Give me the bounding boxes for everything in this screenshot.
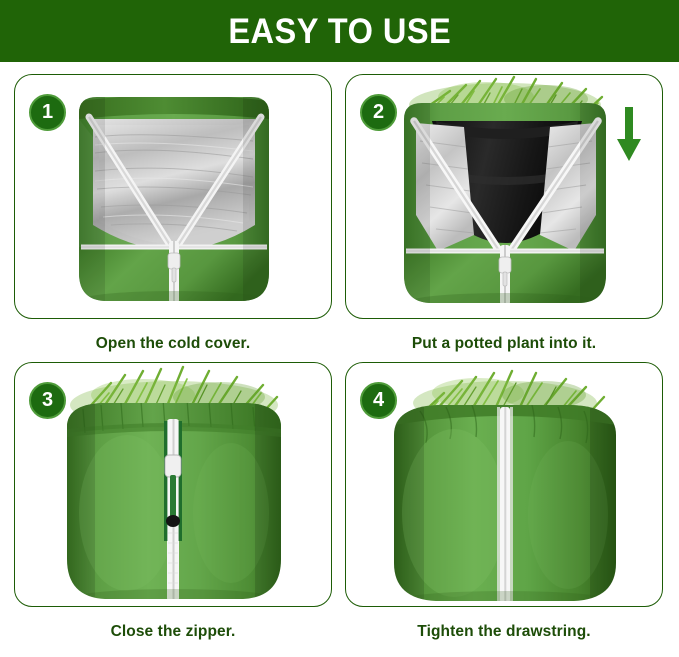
step-cell-2: 2 Put a potted plant into it.	[345, 74, 665, 353]
step-cell-1: 1 Open the cold cover.	[14, 74, 334, 353]
step-caption-1: Open the cold cover.	[14, 335, 332, 353]
step-cell-3: 3 Close the zipper.	[14, 362, 334, 641]
step-number-badge-2: 2	[360, 94, 397, 131]
step-number-badge-1: 1	[29, 94, 66, 131]
step-caption-3: Close the zipper.	[14, 623, 332, 641]
steps-grid: 1 Open the cold cover.	[0, 62, 679, 657]
step-caption-2: Put a potted plant into it.	[345, 335, 663, 353]
step-panel-1: 1	[14, 74, 332, 319]
page-title: EASY TO USE	[228, 14, 451, 49]
step-panel-3: 3	[14, 362, 332, 607]
step-panel-2: 2	[345, 74, 663, 319]
step-caption-4: Tighten the drawstring.	[345, 623, 663, 641]
header-banner: EASY TO USE	[0, 0, 679, 62]
step-panel-4: 4	[345, 362, 663, 607]
arrow-down-icon	[614, 107, 644, 163]
step-number-badge-3: 3	[29, 382, 66, 419]
step-cell-4: 4 Tighten the drawstring.	[345, 362, 665, 641]
step-number-badge-4: 4	[360, 382, 397, 419]
